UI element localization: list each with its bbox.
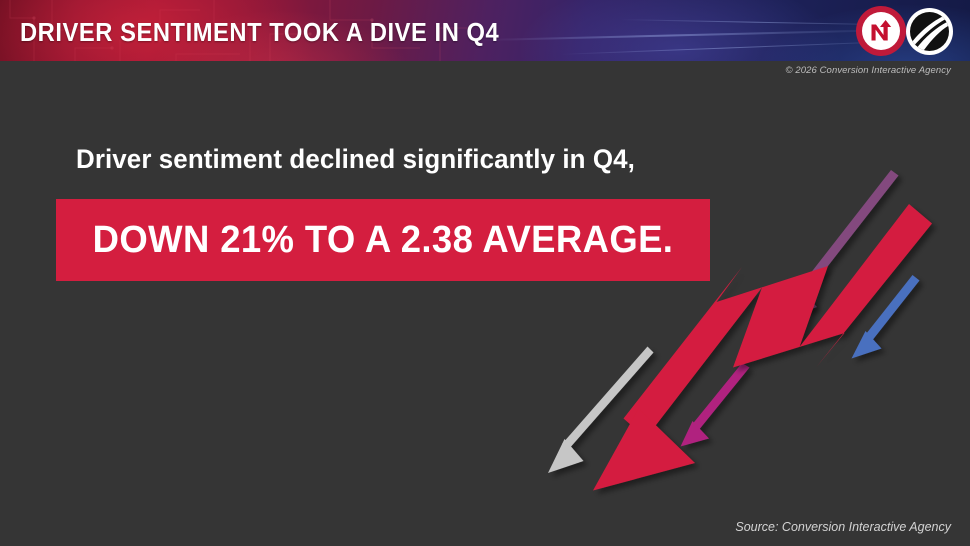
header-glow-purple: [520, 0, 840, 61]
blue-arrow-icon: [852, 275, 920, 359]
gray-arrow-icon: [548, 347, 654, 474]
magenta-arrow-icon: [681, 363, 750, 447]
page-title: DRIVER SENTIMENT TOOK A DIVE IN Q4: [20, 19, 499, 48]
tcc-logo-face: [910, 12, 949, 51]
nav-logo-face: [862, 12, 900, 50]
logo-group: [856, 6, 960, 56]
swoosh-icon: [910, 12, 949, 51]
tcc-logo: [906, 8, 953, 55]
nav-logo-ring: [856, 6, 906, 56]
slide-canvas: DRIVER SENTIMENT TOOK A DIVE IN Q4: [0, 0, 970, 546]
header-light-streak: [480, 29, 900, 41]
source-note: Source: Conversion Interactive Agency: [735, 520, 951, 534]
nav-logo: [856, 6, 906, 56]
n-arrow-icon: [868, 18, 894, 44]
purple-arrow-icon: [782, 170, 899, 320]
headline-text: Driver sentiment declined significantly …: [76, 144, 635, 175]
callout-text: DOWN 21% TO A 2.38 AVERAGE.: [69, 199, 697, 281]
callout-band: DOWN 21% TO A 2.38 AVERAGE.: [56, 199, 710, 281]
copyright-notice: © 2026 Conversion Interactive Agency: [785, 65, 951, 76]
header-banner: DRIVER SENTIMENT TOOK A DIVE IN Q4: [0, 0, 970, 61]
